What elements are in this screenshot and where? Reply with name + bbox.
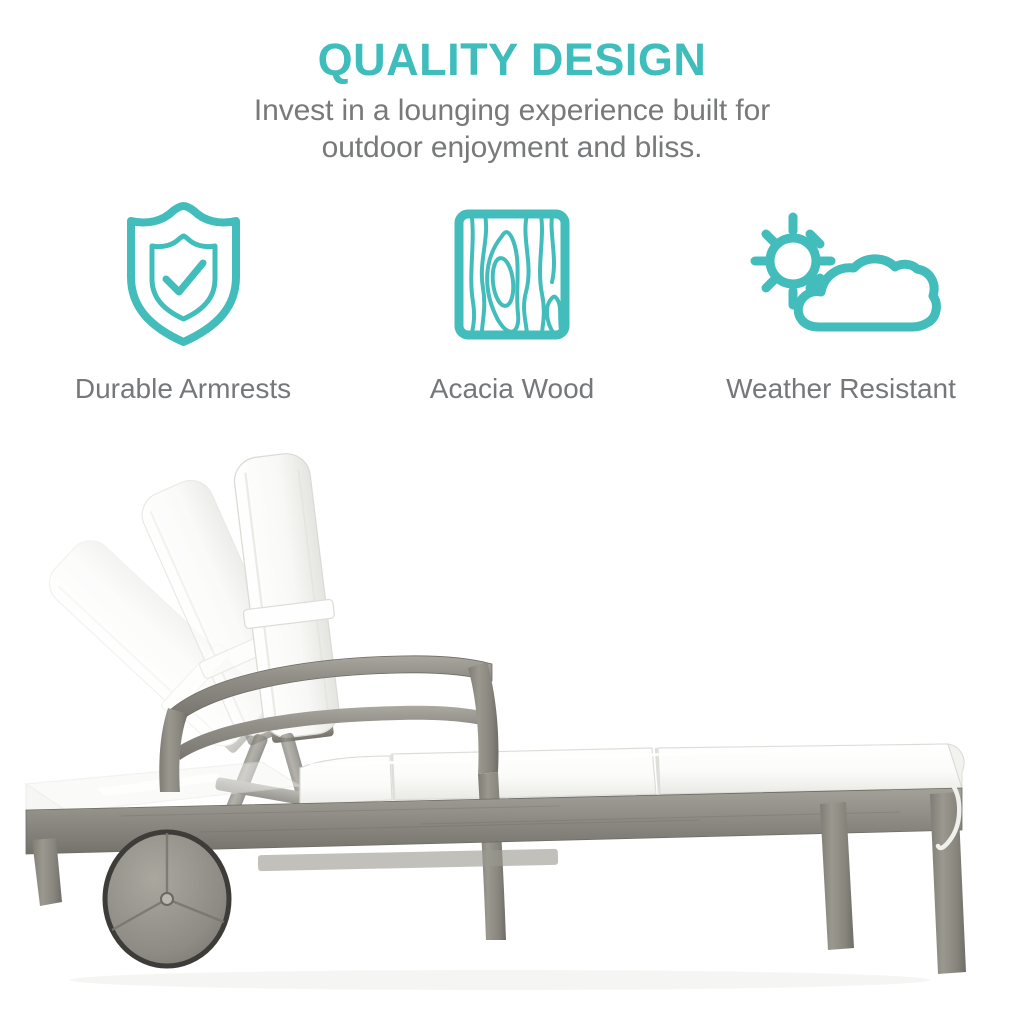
product-image-chaise-lounge — [0, 432, 1024, 1024]
feature-label-weather-resistant: Weather Resistant — [726, 372, 956, 406]
feature-row: Durable Armrests — [0, 198, 1024, 406]
subtitle-line-1: Invest in a lounging experience built fo… — [0, 92, 1024, 129]
sun-cloud-icon — [741, 198, 941, 350]
header-block: QUALITY DESIGN Invest in a lounging expe… — [0, 34, 1024, 166]
product-marketing-banner: QUALITY DESIGN Invest in a lounging expe… — [0, 0, 1024, 1024]
lower-support-bar — [258, 849, 558, 871]
feature-acacia-wood: Acacia Wood — [353, 198, 671, 406]
floor-shadow — [70, 970, 930, 990]
feature-durable-armrests: Durable Armrests — [24, 198, 342, 406]
wood-grain-icon — [442, 198, 582, 350]
subtitle-line-2: outdoor enjoyment and bliss. — [0, 129, 1024, 166]
wheel — [105, 832, 229, 966]
shield-check-icon — [121, 198, 246, 350]
feature-label-durable-armrests: Durable Armrests — [75, 372, 291, 406]
page-title: QUALITY DESIGN — [0, 34, 1024, 86]
feature-weather-resistant: Weather Resistant — [682, 198, 1000, 406]
feature-label-acacia-wood: Acacia Wood — [430, 372, 594, 406]
